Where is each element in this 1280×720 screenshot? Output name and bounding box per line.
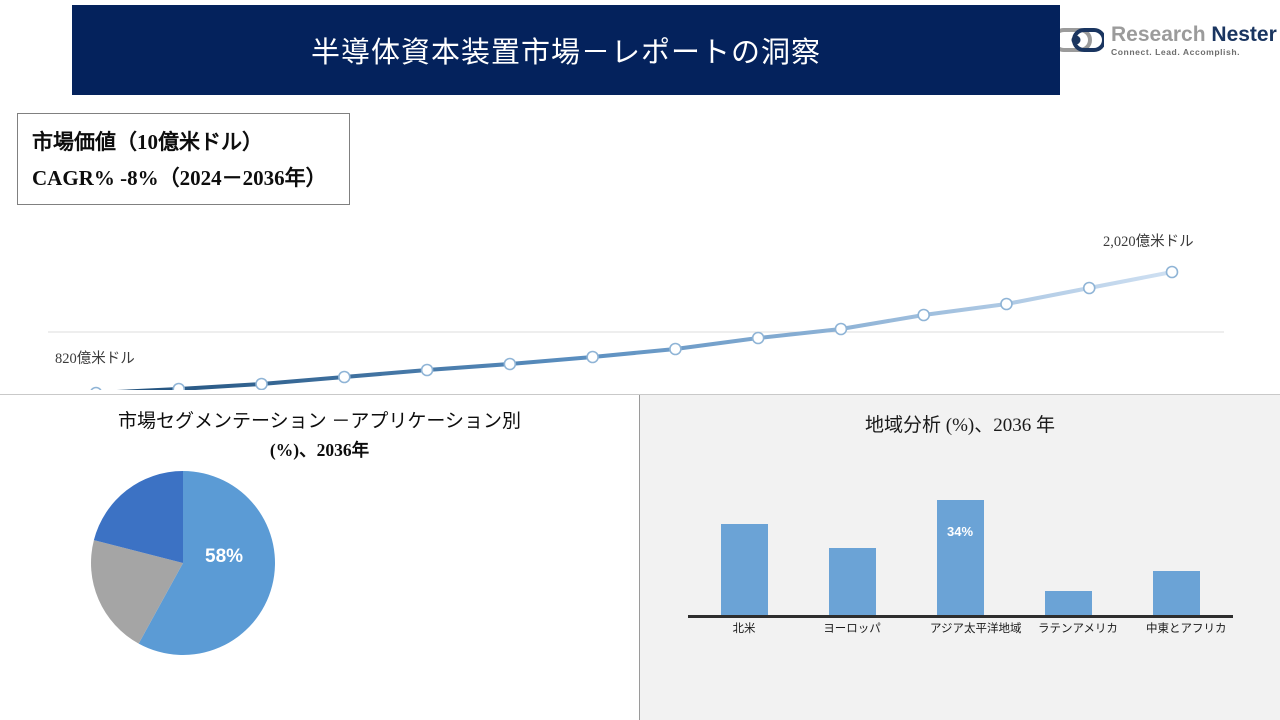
bar-x-tick-label: ヨーロッパ xyxy=(822,620,882,636)
pie-title-line2: (%)、2036年 xyxy=(270,440,369,460)
pie-title-line1: 市場セグメンテーション －アプリケーション別 xyxy=(118,411,521,432)
logo-name-research: Research xyxy=(1111,23,1206,46)
bar[interactable]: 34% xyxy=(937,500,984,615)
line-data-point xyxy=(339,372,350,383)
bar-x-tick-label: ラテンアメリカ xyxy=(1038,620,1098,636)
logo-tagline: Connect. Lead. Accomplish. xyxy=(1111,48,1277,57)
bar-x-tick-label: 北米 xyxy=(714,620,774,636)
bar-column xyxy=(822,548,882,616)
bar[interactable] xyxy=(1153,571,1200,615)
line-data-point xyxy=(173,384,184,391)
logo-name-nester: Nester xyxy=(1211,23,1276,46)
line-data-point xyxy=(504,359,515,370)
line-end-label: 2,020億米ドル xyxy=(1103,230,1194,251)
pie-chart-svg xyxy=(88,468,278,658)
bar[interactable] xyxy=(721,524,768,615)
bar-column xyxy=(1146,571,1206,615)
bar-column xyxy=(714,524,774,615)
bar-chart-plot: 34% xyxy=(690,480,1230,615)
pie-chart-title: 市場セグメンテーション －アプリケーション別 (%)、2036年 xyxy=(0,407,639,465)
header-bar: 半導体資本装置市場－レポートの洞察 xyxy=(72,5,1060,95)
pie-chart-panel: 市場セグメンテーション －アプリケーション別 (%)、2036年 58% ファウ… xyxy=(0,395,639,720)
regional-bar-panel: 地域分析 (%)、2036 年 34% 北米ヨーロッパアジア太平洋地域ラテンアメ… xyxy=(640,395,1280,720)
vertical-divider xyxy=(639,395,640,720)
slide-root: 半導体資本装置市場－レポートの洞察 Research Nester Connec… xyxy=(0,0,1280,720)
bar-column: 34% xyxy=(930,500,990,615)
bar-value-label: 34% xyxy=(937,524,984,539)
line-data-point xyxy=(587,352,598,363)
line-start-label: 820億米ドル xyxy=(55,347,135,368)
bar-chart-axis xyxy=(688,615,1233,618)
line-data-point xyxy=(1001,299,1012,310)
bar-x-tick-label: アジア太平洋地域 xyxy=(930,620,990,636)
logo-name: Research Nester xyxy=(1111,24,1277,45)
line-data-point xyxy=(256,379,267,390)
bar-column xyxy=(1038,591,1098,615)
bar[interactable] xyxy=(1045,591,1092,615)
line-data-point xyxy=(918,310,929,321)
line-data-point xyxy=(1084,283,1095,294)
line-data-point xyxy=(91,388,102,391)
line-chart-svg xyxy=(0,100,1280,390)
page-title: 半導体資本装置市場－レポートの洞察 xyxy=(72,5,1060,95)
line-data-point xyxy=(670,344,681,355)
line-data-point xyxy=(835,324,846,335)
line-chart-panel: 820億米ドル 2,020億米ドル 2022年2023年2024年2025年20… xyxy=(0,100,1280,390)
bar[interactable] xyxy=(829,548,876,616)
bar-chart-title: 地域分析 (%)、2036 年 xyxy=(640,410,1280,437)
bar-x-tick-label: 中東とアフリカ xyxy=(1146,620,1206,636)
line-data-point xyxy=(422,365,433,376)
pie-main-percentage: 58% xyxy=(205,546,243,568)
logo-mark-icon xyxy=(1060,24,1104,56)
line-data-point xyxy=(1167,267,1178,278)
bar-chart-x-labels: 北米ヨーロッパアジア太平洋地域ラテンアメリカ中東とアフリカ xyxy=(690,620,1230,636)
line-data-point xyxy=(753,333,764,344)
logo-text: Research Nester Connect. Lead. Accomplis… xyxy=(1111,24,1277,57)
research-nester-logo: Research Nester Connect. Lead. Accomplis… xyxy=(1060,14,1274,66)
